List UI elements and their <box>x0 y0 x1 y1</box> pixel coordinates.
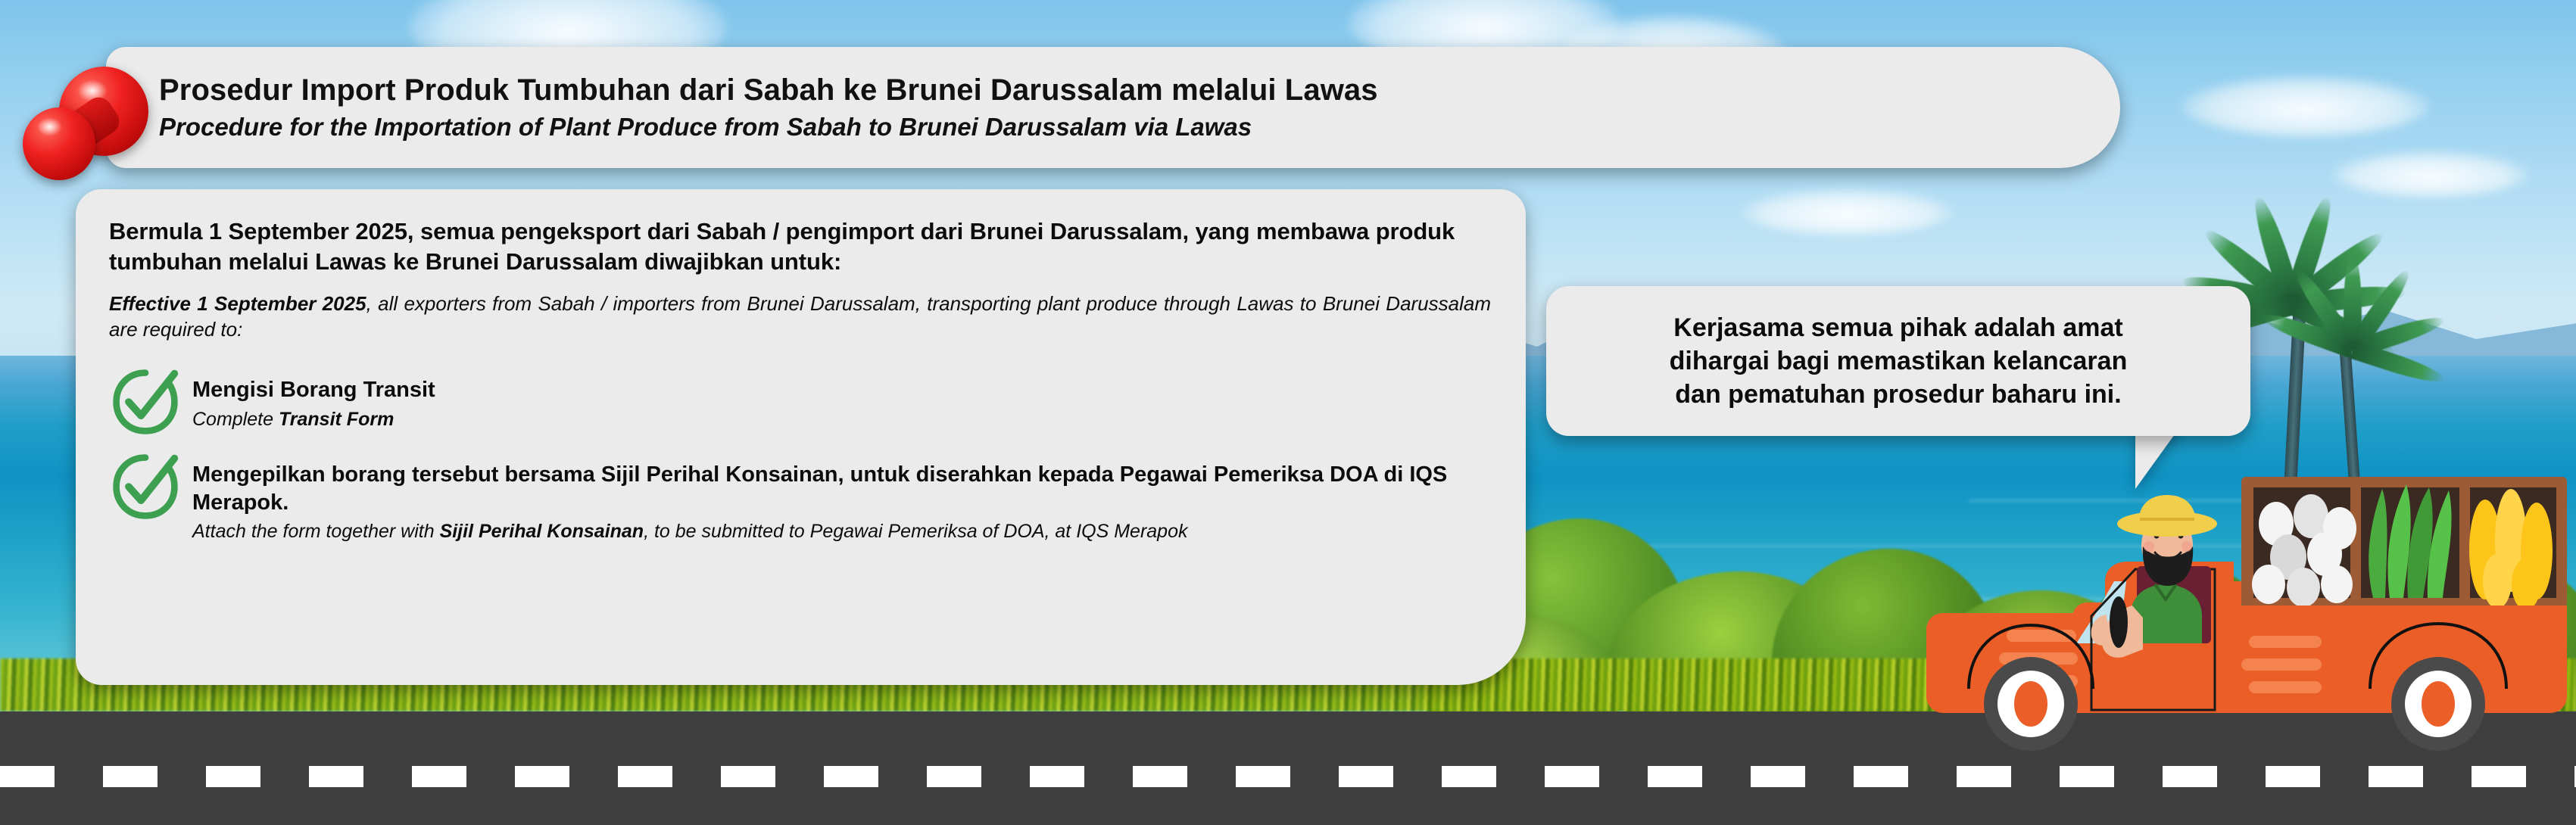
check-en-plain: Complete <box>192 409 279 430</box>
checklist-item: Mengepilkan borang tersebut bersama Siji… <box>109 455 1491 544</box>
page-title-malay: Prosedur Import Produk Tumbuhan dari Sab… <box>159 73 2078 108</box>
checklist-item-text: Mengisi Borang Transit Complete Transit … <box>192 370 1491 431</box>
orange-pickup-truck-with-farmer-icon <box>1916 454 2576 772</box>
checklist-item-malay: Mengisi Borang Transit <box>192 376 1491 404</box>
intro-paragraph-english: Effective 1 September 2025, all exporter… <box>109 291 1491 344</box>
intro-malay-lead: Bermula 1 September 2025, <box>109 218 413 244</box>
speech-bubble-text: Kerjasama semua pihak adalah amat diharg… <box>1670 311 2128 412</box>
red-pushpin-icon <box>23 53 151 182</box>
cloud <box>1742 189 1954 235</box>
checklist-item-english: Complete Transit Form <box>192 407 1491 432</box>
page-title-english: Procedure for the Importation of Plant P… <box>159 112 2078 142</box>
checklist-item-malay: Mengepilkan borang tersebut bersama Siji… <box>192 461 1491 516</box>
check-en-bold: Transit Form <box>279 409 394 430</box>
yellow-corn-crate <box>2469 489 2553 610</box>
check-en-plain: Attach the form together with <box>192 521 440 542</box>
check-en-bold: Sijil Perihal Konsainan <box>440 521 644 542</box>
requirements-checklist: Mengisi Borang Transit Complete Transit … <box>109 370 1491 544</box>
speech-bubble: Kerjasama semua pihak adalah amat diharg… <box>1546 286 2250 436</box>
title-panel: Prosedur Import Produk Tumbuhan dari Sab… <box>106 47 2120 168</box>
checklist-item-text: Mengepilkan borang tersebut bersama Siji… <box>192 455 1491 544</box>
intro-english-lead: Effective 1 September 2025 <box>109 292 366 315</box>
green-check-circle-icon <box>109 450 182 523</box>
check-en-tail: , to be submitted to Pegawai Pemeriksa o… <box>644 521 1187 542</box>
intro-paragraph-malay: Bermula 1 September 2025, semua pengeksp… <box>109 216 1491 278</box>
truck-wheel-front <box>1984 657 2078 751</box>
checklist-item-english: Attach the form together with Sijil Peri… <box>192 519 1491 544</box>
truck-wheel-rear <box>2391 657 2485 751</box>
checklist-item: Mengisi Borang Transit Complete Transit … <box>109 370 1491 438</box>
cloud <box>2332 151 2529 197</box>
main-content-panel: Bermula 1 September 2025, semua pengeksp… <box>76 189 1526 685</box>
green-check-circle-icon <box>109 366 182 438</box>
pushpin-tip <box>23 107 95 180</box>
cloud <box>2181 76 2431 136</box>
steering-wheel <box>2110 596 2128 648</box>
